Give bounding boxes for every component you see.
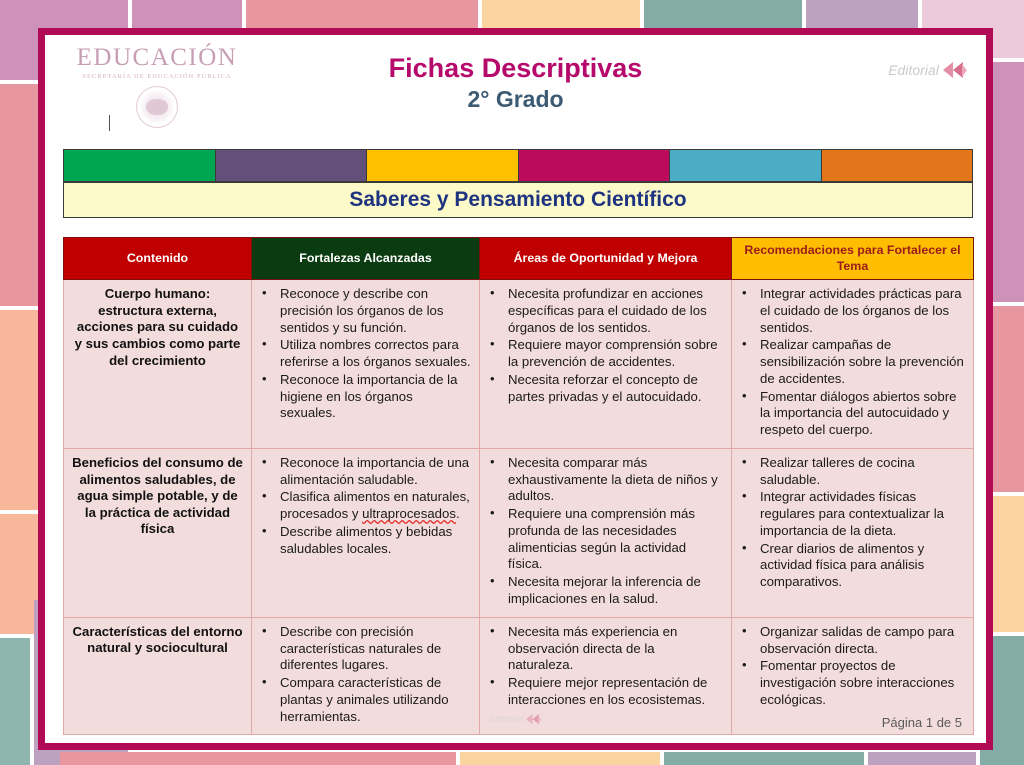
footer-editorial-md-watermark: Editorial	[489, 713, 542, 726]
color-strip-segment-sky-blue	[670, 150, 822, 181]
md-play-mark-icon	[942, 61, 968, 80]
list-item: Requiere mejor representación de interac…	[488, 675, 723, 709]
subject-banner: Saberes y Pensamiento Científico	[63, 182, 973, 218]
spellcheck-underlined-word: ultraprocesados	[362, 506, 456, 521]
page-content: EDUCACIÓN SECRETARÍA DE EDUCACIÓN PÚBLIC…	[45, 35, 986, 743]
page-subtitle: 2° Grado	[45, 85, 986, 113]
cell-recomendaciones: Integrar actividades prácticas para el c…	[732, 280, 974, 449]
list-item: Requiere mayor comprensión sobre la prev…	[488, 337, 723, 371]
column-header-contenido: Contenido	[64, 238, 252, 280]
mosaic-tile-BCA2BF	[868, 752, 976, 765]
table-row: Cuerpo humano: estructura externa, accio…	[64, 280, 974, 449]
list-item: Clasifica alimentos en naturales, proces…	[260, 489, 471, 523]
cell-fortalezas: Reconoce y describe con precisión los ór…	[252, 280, 480, 449]
page-header: EDUCACIÓN SECRETARÍA DE EDUCACIÓN PÚBLIC…	[45, 35, 986, 133]
cell-fortalezas-list: Reconoce la importancia de una alimentac…	[260, 455, 471, 558]
list-item: Necesita más experiencia en observación …	[488, 624, 723, 674]
page-footer: Editorial Página 1 de 5	[45, 713, 986, 735]
cell-fortalezas: Reconoce la importancia de una alimentac…	[252, 448, 480, 617]
cell-areas-list: Necesita profundizar en acciones específ…	[488, 286, 723, 405]
cell-contenido: Beneficios del consumo de alimentos salu…	[64, 448, 252, 617]
list-item: Reconoce y describe con precisión los ór…	[260, 286, 471, 336]
cell-areas-list: Necesita más experiencia en observación …	[488, 624, 723, 709]
page-title: Fichas Descriptivas	[45, 53, 986, 85]
color-strip-segment-magenta	[519, 150, 671, 181]
column-header-recomendaciones: Recomendaciones para Fortalecer el Tema	[732, 238, 974, 280]
footer-editorial-label: Editorial	[489, 714, 523, 725]
cell-areas: Necesita comparar más exhaustivamente la…	[480, 448, 732, 617]
list-item: Necesita profundizar en acciones específ…	[488, 286, 723, 336]
cell-fortalezas-list: Describe con precisión características n…	[260, 624, 471, 726]
color-strip-segment-orange	[822, 150, 973, 181]
footer-md-play-mark-icon	[525, 713, 542, 726]
column-header-fortalezas: Fortalezas Alcanzadas	[252, 238, 480, 280]
text-cursor-caret	[109, 115, 110, 131]
page-number-label: Página 1 de 5	[882, 715, 962, 730]
list-item: Realizar campañas de sensibilización sob…	[740, 337, 965, 387]
cell-fortalezas-list: Reconoce y describe con precisión los ór…	[260, 286, 471, 422]
fichas-descriptivas-table: Contenido Fortalezas Alcanzadas Áreas de…	[63, 237, 974, 735]
cell-recomendaciones-list: Organizar salidas de campo para observac…	[740, 624, 965, 709]
table-header-row: Contenido Fortalezas Alcanzadas Áreas de…	[64, 238, 974, 280]
list-item: Reconoce la importancia de la higiene en…	[260, 372, 471, 422]
mosaic-tile-8FB6AE	[0, 638, 30, 765]
list-item: Necesita reforzar el concepto de partes …	[488, 372, 723, 406]
cell-recomendaciones-list: Integrar actividades prácticas para el c…	[740, 286, 965, 439]
cell-contenido: Cuerpo humano: estructura externa, accio…	[64, 280, 252, 449]
list-item: Integrar actividades físicas regulares p…	[740, 489, 965, 539]
list-item: Fomentar diálogos abiertos sobre la impo…	[740, 389, 965, 439]
subject-banner-text: Saberes y Pensamiento Científico	[349, 188, 686, 212]
list-item: Crear diarios de alimentos y actividad f…	[740, 541, 965, 591]
list-item: Necesita comparar más exhaustivamente la…	[488, 455, 723, 505]
color-strip-segment-purple	[216, 150, 368, 181]
column-header-areas: Áreas de Oportunidad y Mejora	[480, 238, 732, 280]
document-page-frame: EDUCACIÓN SECRETARÍA DE EDUCACIÓN PÚBLIC…	[38, 28, 993, 750]
mosaic-tile-E8969F	[60, 752, 456, 765]
list-item: Necesita mejorar la inferencia de implic…	[488, 574, 723, 608]
color-strip-segment-amber	[367, 150, 519, 181]
list-item: Integrar actividades prácticas para el c…	[740, 286, 965, 336]
list-item: Describe alimentos y bebidas saludables …	[260, 524, 471, 558]
cell-areas-list: Necesita comparar más exhaustivamente la…	[488, 455, 723, 608]
editorial-md-logo: Editorial	[888, 61, 968, 80]
table-row: Beneficios del consumo de alimentos salu…	[64, 448, 974, 617]
list-item: Realizar talleres de cocina saludable.	[740, 455, 965, 489]
list-item: Reconoce la importancia de una alimentac…	[260, 455, 471, 489]
table-body: Cuerpo humano: estructura externa, accio…	[64, 280, 974, 735]
mosaic-tile-82ACA5	[664, 752, 864, 765]
cell-recomendaciones: Realizar talleres de cocina saludable.In…	[732, 448, 974, 617]
mosaic-tile-FBD4A0	[460, 752, 660, 765]
cell-recomendaciones-list: Realizar talleres de cocina saludable.In…	[740, 455, 965, 591]
list-item: Fomentar proyectos de investigación sobr…	[740, 658, 965, 708]
title-block: Fichas Descriptivas 2° Grado	[45, 53, 986, 113]
color-strip-segment-green	[64, 150, 216, 181]
list-item: Organizar salidas de campo para observac…	[740, 624, 965, 658]
editorial-label: Editorial	[888, 63, 939, 78]
list-item: Describe con precisión características n…	[260, 624, 471, 674]
list-item: Utiliza nombres correctos para referirse…	[260, 337, 471, 371]
color-strip	[63, 149, 973, 182]
list-item: Requiere una comprensión más profunda de…	[488, 506, 723, 573]
cell-areas: Necesita profundizar en acciones específ…	[480, 280, 732, 449]
